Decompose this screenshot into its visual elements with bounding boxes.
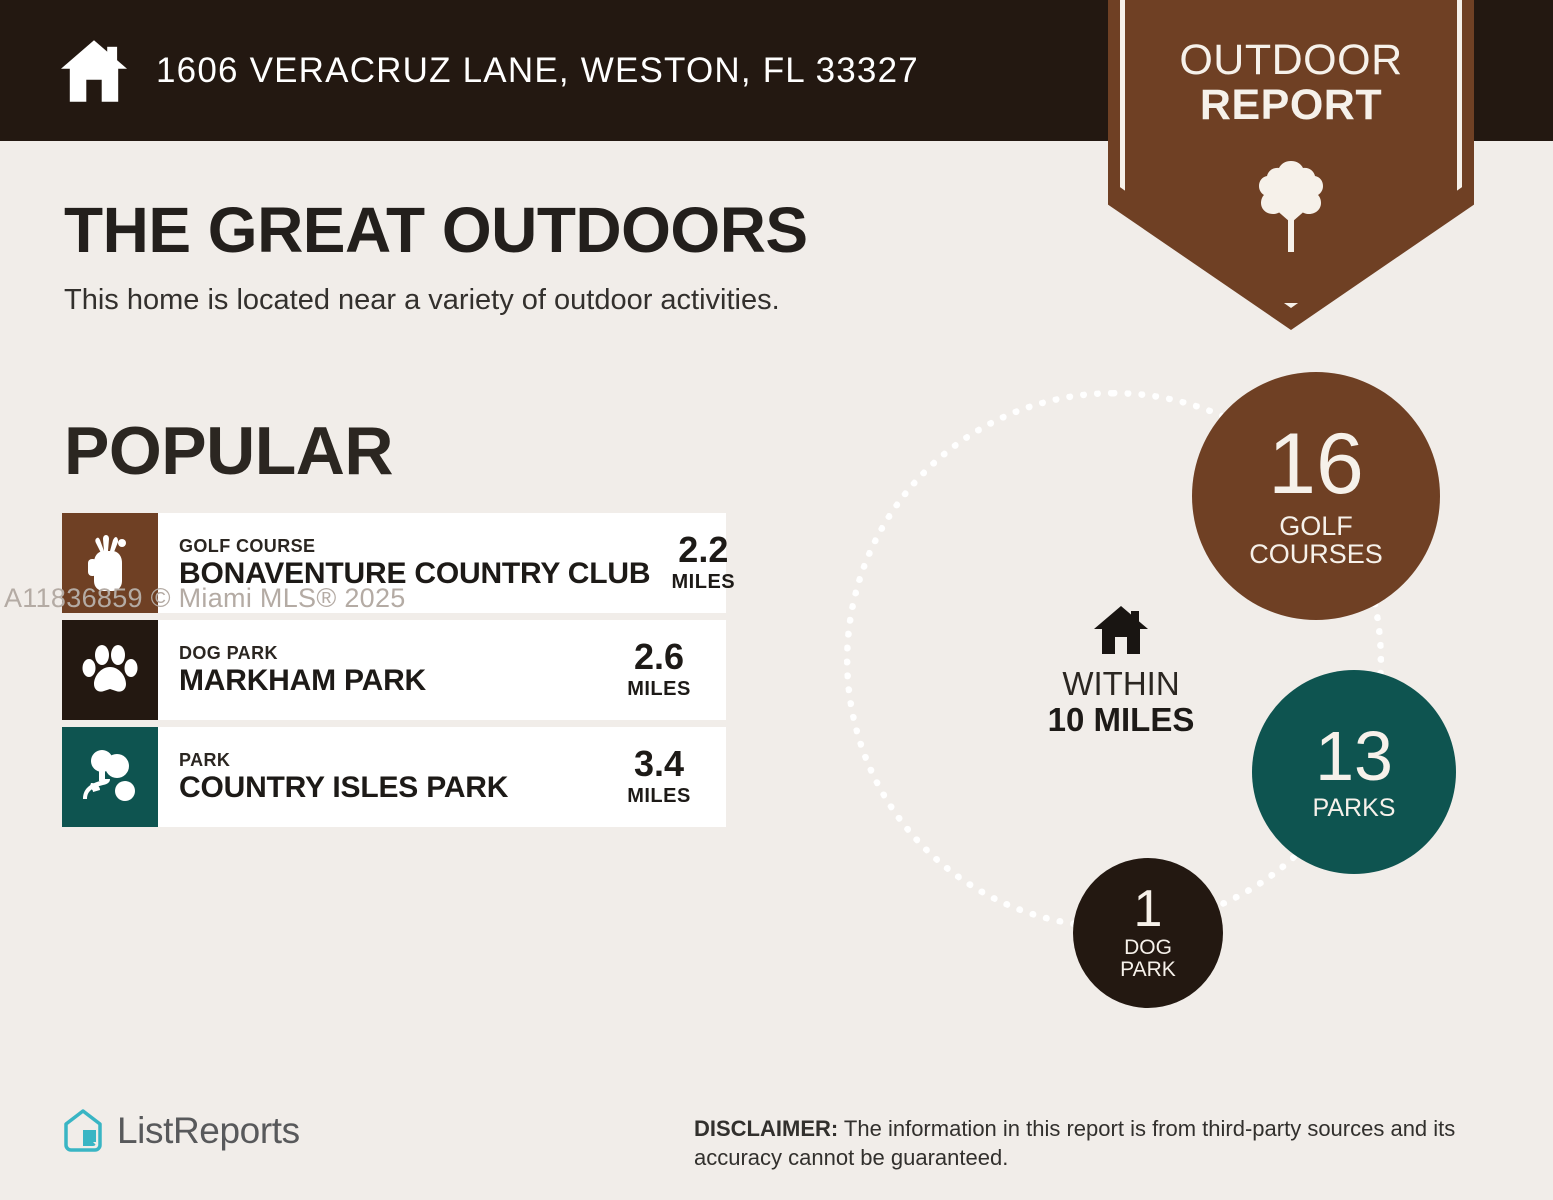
- parks-count-bubble: 13 PARKS: [1252, 670, 1456, 874]
- dog-parks-count-bubble: 1 DOG PARK: [1073, 858, 1223, 1008]
- badge-line1: OUTDOOR: [1108, 40, 1474, 81]
- paw-print-icon-tile: [62, 620, 158, 720]
- distance-unit: MILES: [627, 785, 691, 808]
- home-icon: [1093, 604, 1149, 656]
- dog-parks-label-line2: PARK: [1120, 959, 1176, 981]
- tree-icon: [1254, 158, 1328, 254]
- parks-label: PARKS: [1313, 795, 1396, 821]
- dog-parks-count: 1: [1134, 885, 1163, 934]
- golf-courses-label: GOLF COURSES: [1249, 512, 1383, 569]
- list-item-text: DOG PARK MARKHAM PARK: [158, 620, 606, 720]
- property-address: 1606 VERACRUZ LANE, WESTON, FL 33327: [156, 51, 919, 91]
- list-item-text: PARK COUNTRY ISLES PARK: [158, 727, 606, 827]
- mls-watermark: A11836859 © Miami MLS® 2025: [4, 583, 406, 614]
- list-item-category: GOLF COURSE: [179, 536, 650, 557]
- list-item-distance: 2.6 MILES: [606, 620, 726, 720]
- list-item-distance: 2.2 MILES: [650, 513, 770, 613]
- outdoor-report-badge: OUTDOOR REPORT: [1108, 0, 1474, 330]
- list-item-name: COUNTRY ISLES PARK: [179, 771, 606, 805]
- park-trees-icon: [81, 749, 139, 805]
- within-label: WITHIN: [1010, 666, 1232, 702]
- page-subtitle: This home is located near a variety of o…: [64, 284, 780, 317]
- list-item-category: DOG PARK: [179, 643, 606, 664]
- distance-value: 2.2: [678, 532, 728, 568]
- distance-unit: MILES: [627, 678, 691, 701]
- outdoor-report-page: 1606 VERACRUZ LANE, WESTON, FL 33327 OUT…: [0, 0, 1553, 1200]
- within-radius-note: WITHIN 10 MILES: [1010, 604, 1232, 737]
- listreports-logo[interactable]: ListReports: [62, 1108, 300, 1154]
- disclaimer: DISCLAIMER: The information in this repo…: [694, 1114, 1494, 1173]
- distance-value: 3.4: [634, 746, 684, 782]
- home-icon: [58, 38, 130, 104]
- disclaimer-label: DISCLAIMER:: [694, 1116, 838, 1141]
- listreports-wordmark: ListReports: [117, 1110, 300, 1152]
- paw-print-icon: [82, 643, 138, 697]
- badge-line2: REPORT: [1108, 85, 1474, 126]
- golf-courses-count: 16: [1268, 424, 1364, 506]
- radius-label: 10 MILES: [1010, 702, 1232, 738]
- dog-parks-label-line1: DOG: [1120, 937, 1176, 959]
- golf-courses-label-line2: COURSES: [1249, 540, 1383, 568]
- list-item-category: PARK: [179, 750, 606, 771]
- badge-text: OUTDOOR REPORT: [1108, 40, 1474, 126]
- park-trees-icon-tile: [62, 727, 158, 827]
- parks-count: 13: [1315, 723, 1393, 790]
- list-item[interactable]: PARK COUNTRY ISLES PARK 3.4 MILES: [62, 727, 726, 827]
- list-item[interactable]: DOG PARK MARKHAM PARK 2.6 MILES: [62, 620, 726, 720]
- list-item-distance: 3.4 MILES: [606, 727, 726, 827]
- listreports-house-icon: [62, 1108, 104, 1154]
- page-title: THE GREAT OUTDOORS: [64, 193, 808, 267]
- dog-parks-label: DOG PARK: [1120, 937, 1176, 981]
- distance-unit: MILES: [672, 571, 736, 594]
- list-item-name: MARKHAM PARK: [179, 664, 606, 698]
- golf-courses-count-bubble: 16 GOLF COURSES: [1192, 372, 1440, 620]
- distance-value: 2.6: [634, 639, 684, 675]
- popular-heading: POPULAR: [64, 412, 393, 490]
- golf-courses-label-line1: GOLF: [1249, 512, 1383, 540]
- popular-list: GOLF COURSE BONAVENTURE COUNTRY CLUB 2.2…: [62, 513, 726, 834]
